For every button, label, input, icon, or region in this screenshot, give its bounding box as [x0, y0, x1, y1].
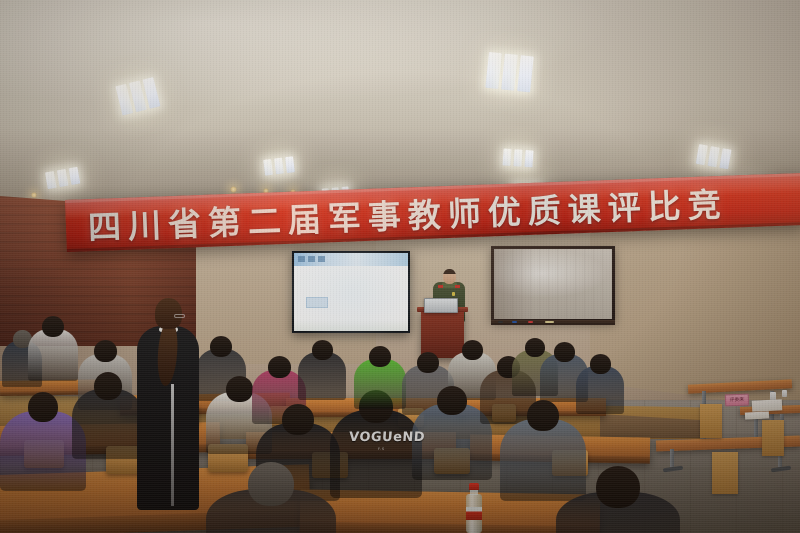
light-tube	[45, 171, 57, 189]
glasses-icon	[174, 314, 185, 318]
light-tube	[696, 144, 708, 165]
standing-woman	[137, 298, 199, 510]
judge-chair	[700, 404, 722, 438]
name-card-text: 评委席	[730, 398, 744, 403]
audience-member-head	[210, 336, 232, 357]
audience-member-head	[417, 352, 439, 373]
light-tube	[57, 169, 69, 187]
marker-icon	[512, 321, 517, 323]
audience-member-head	[268, 356, 291, 378]
audience-member-head	[596, 466, 640, 508]
audience-member-head	[248, 462, 294, 506]
desk-edge	[300, 521, 600, 533]
audience-member-head	[437, 386, 467, 415]
bottle-cap	[469, 483, 479, 490]
judge-chair	[762, 420, 784, 456]
audience-member-head	[312, 340, 333, 360]
water-bottle	[466, 483, 482, 533]
audience-member	[576, 354, 624, 422]
light-tube	[69, 167, 81, 185]
vogue-jacket-text: VOGUeND	[348, 430, 425, 445]
recessed-downlight	[31, 192, 37, 198]
chest-badge-icon	[452, 292, 455, 296]
eraser-icon	[545, 321, 554, 323]
rank-insignia-icon	[455, 285, 460, 288]
slide-header-dots	[298, 256, 325, 262]
cup	[782, 390, 787, 397]
fluorescent-light-fixture	[485, 52, 550, 94]
audience-member-head	[226, 376, 253, 402]
light-tube	[707, 146, 719, 167]
audience-member-head	[282, 404, 314, 435]
bottle-label	[466, 507, 482, 520]
light-tube	[502, 148, 511, 166]
table-leg	[670, 449, 674, 467]
light-tube	[517, 55, 534, 92]
audience-member	[206, 462, 336, 533]
light-tube	[285, 156, 295, 173]
marker-icon	[498, 321, 503, 323]
projection-screen	[292, 251, 410, 333]
fluorescent-light-fixture	[502, 148, 549, 168]
whiteboard-surface	[494, 249, 612, 319]
cup	[770, 392, 776, 400]
marker-icon	[528, 321, 533, 323]
light-tube	[501, 54, 518, 91]
audience-member-head	[554, 342, 575, 362]
vogue-jacket-subtext: F.S	[378, 447, 385, 451]
laptop	[424, 298, 458, 313]
projected-slide	[294, 253, 408, 331]
light-tube	[719, 148, 731, 169]
light-tube	[263, 159, 273, 176]
light-tube	[485, 52, 502, 89]
audience-member-head	[94, 372, 122, 400]
audience-member	[72, 372, 144, 470]
audience-member	[298, 340, 346, 408]
audience-member-head	[42, 316, 64, 337]
audience-member-head	[590, 354, 611, 374]
audience-member	[556, 466, 680, 533]
recessed-downlight	[230, 186, 237, 193]
judge-chair	[712, 452, 738, 494]
coat-stripe	[171, 384, 174, 506]
judge-name-card: 评委席	[725, 394, 749, 407]
slide-content-box	[306, 297, 328, 308]
audience-member-head	[94, 340, 117, 362]
audience-member	[354, 346, 406, 417]
slide-header-bar	[294, 253, 408, 266]
light-tube	[513, 149, 522, 167]
light-tube	[524, 150, 533, 168]
classroom-photo: 四川省第二届军事教师优质课评比竞 评委席	[0, 0, 800, 533]
audience-member-head	[28, 392, 58, 422]
whiteboard	[491, 246, 615, 322]
audience-member-head	[527, 400, 559, 431]
paper-sheet	[745, 411, 769, 419]
officer-head	[443, 269, 456, 284]
audience-member	[28, 316, 78, 389]
light-tube	[274, 158, 284, 175]
audience-member-torso	[330, 410, 422, 498]
rank-insignia-icon	[438, 285, 443, 288]
audience-member-head	[369, 346, 391, 367]
paper-sheet	[752, 399, 783, 412]
